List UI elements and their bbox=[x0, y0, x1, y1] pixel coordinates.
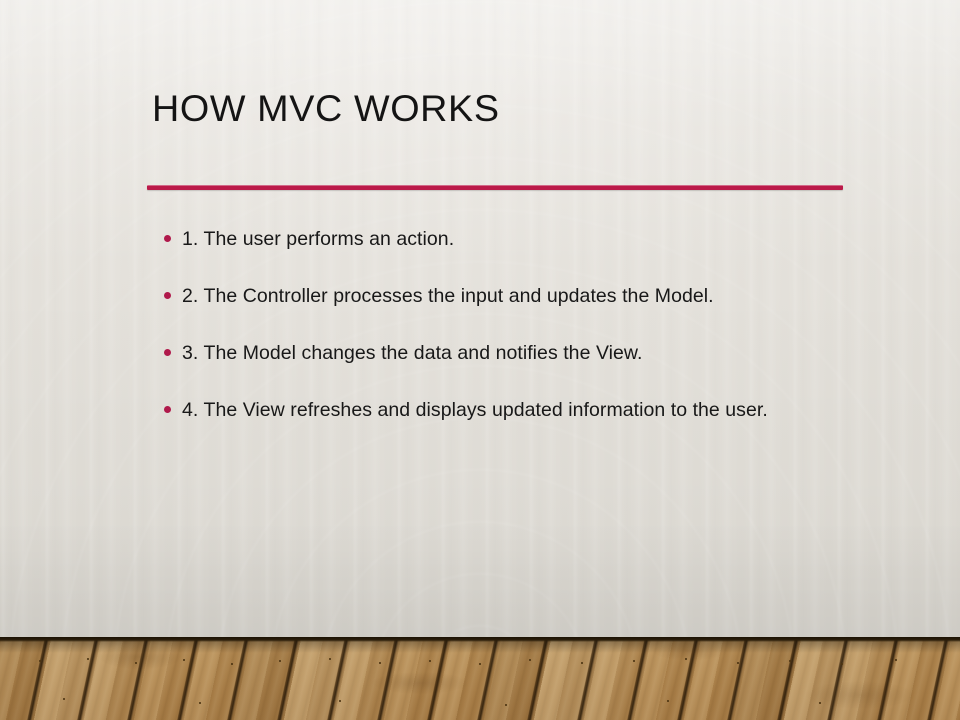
wooden-floor bbox=[0, 637, 960, 720]
list-item: 4. The View refreshes and displays updat… bbox=[158, 390, 838, 431]
list-item-label: 3. The Model changes the data and notifi… bbox=[182, 333, 838, 374]
title-divider-rule bbox=[147, 185, 843, 190]
divider-highlight bbox=[147, 185, 843, 186]
bullet-dot-icon bbox=[164, 292, 171, 299]
floor-wall-shadow bbox=[0, 637, 960, 653]
list-item: 3. The Model changes the data and notifi… bbox=[158, 333, 838, 374]
list-item: 1. The user performs an action. bbox=[158, 219, 838, 260]
list-item-label: 1. The user performs an action. bbox=[182, 219, 838, 260]
page-title: HOW MVC WORKS bbox=[152, 88, 500, 130]
bullet-list: 1. The user performs an action. 2. The C… bbox=[158, 219, 838, 447]
presentation-slide: HOW MVC WORKS 1. The user performs an ac… bbox=[0, 0, 960, 720]
list-item: 2. The Controller processes the input an… bbox=[158, 276, 838, 317]
bullet-dot-icon bbox=[164, 349, 171, 356]
list-item-label: 4. The View refreshes and displays updat… bbox=[182, 390, 838, 431]
bullet-dot-icon bbox=[164, 235, 171, 242]
bullet-dot-icon bbox=[164, 406, 171, 413]
wall-bottom-shading bbox=[0, 520, 960, 638]
list-item-label: 2. The Controller processes the input an… bbox=[182, 276, 838, 317]
